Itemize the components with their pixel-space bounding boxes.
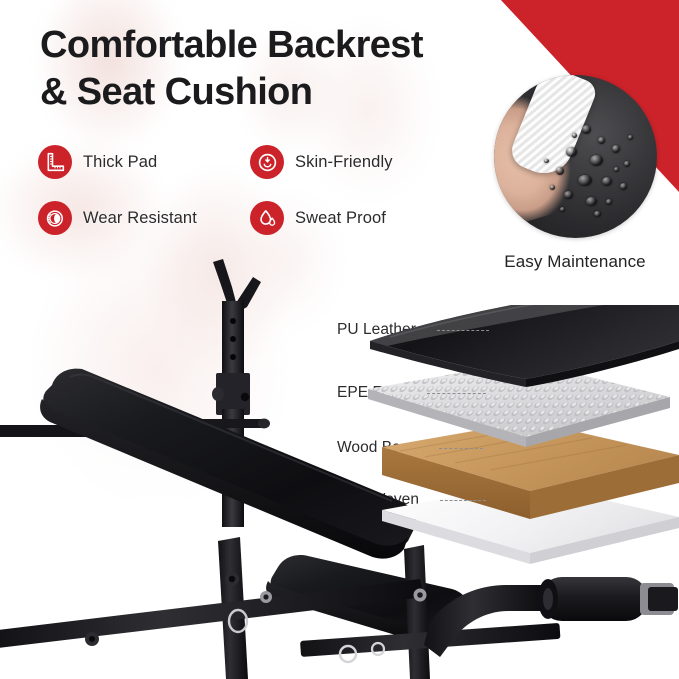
headline-line-2: & Seat Cushion — [40, 69, 423, 116]
feature-label: Skin-Friendly — [295, 153, 393, 172]
easy-maintenance-block: Easy Maintenance — [484, 75, 666, 272]
maintenance-caption: Easy Maintenance — [484, 252, 666, 272]
water-droplets-icon — [250, 201, 284, 235]
ruler-square-icon — [38, 145, 72, 179]
layer-pu-leather — [370, 305, 679, 387]
feature-list: Thick Pad Skin-Friendly — [38, 145, 458, 235]
leader-line-non-woven-fabric — [440, 500, 486, 501]
smiley-face-icon — [250, 145, 284, 179]
layer-diagram — [330, 305, 679, 585]
leader-line-wood-base — [439, 448, 483, 449]
feature-thick-pad: Thick Pad — [38, 145, 250, 179]
leader-line-epe-foam — [427, 393, 486, 394]
tire-gear-icon — [38, 201, 72, 235]
feature-label: Wear Resistant — [83, 209, 197, 228]
page-title: Comfortable Backrest & Seat Cushion — [40, 22, 423, 116]
feature-skin-friendly: Skin-Friendly — [250, 145, 393, 179]
infographic-canvas: Comfortable Backrest & Seat Cushion Thic… — [0, 0, 679, 679]
feature-wear-resistant: Wear Resistant — [38, 201, 250, 235]
feature-sweat-proof: Sweat Proof — [250, 201, 386, 235]
feature-label: Thick Pad — [83, 153, 157, 172]
leader-line-pu-leather — [437, 330, 489, 331]
maintenance-photo — [494, 75, 657, 238]
feature-label: Sweat Proof — [295, 209, 386, 228]
headline-line-1: Comfortable Backrest — [40, 24, 423, 66]
